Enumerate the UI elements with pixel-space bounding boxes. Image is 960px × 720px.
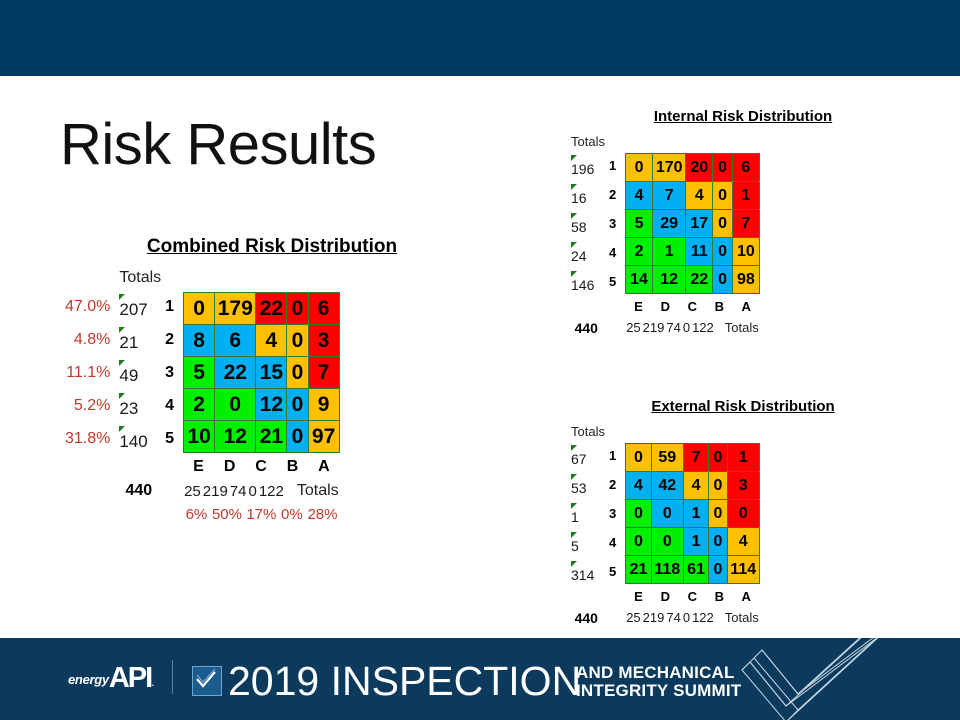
cell-1-C: 22	[256, 293, 287, 325]
internal-row-total: 146	[571, 277, 594, 293]
combined-row-total: 207	[119, 300, 147, 319]
table-row: 10 12 21 0 97	[184, 421, 340, 453]
col-label-D: D	[214, 457, 245, 477]
col-percent-A: 28%	[305, 505, 339, 524]
summit-checkmark-graphic	[724, 638, 904, 720]
api-logo-registered: .	[151, 675, 154, 689]
combined-row-percent: 31.8%	[64, 423, 116, 454]
internal-risk-layout: Totals 196 1 0 170 20 0 6	[568, 130, 763, 339]
combined-row-percent: 4.8%	[64, 324, 116, 355]
internal-totals-header: Totals	[571, 134, 605, 149]
col-total-E: 25	[183, 481, 202, 501]
internal-risk-title: Internal Risk Distribution	[568, 108, 918, 125]
cell-5-A: 97	[308, 421, 339, 453]
external-row-label: 5	[608, 558, 622, 585]
cell-4-C: 1	[683, 528, 709, 556]
cell-1-D: 170	[652, 154, 686, 182]
external-row-label: 2	[608, 471, 622, 498]
table-row: 21 118 61 0 114	[626, 556, 760, 584]
cell-3-E: 5	[626, 210, 653, 238]
cell-3-B: 0	[287, 357, 308, 389]
col-total-C: 74	[229, 481, 248, 501]
cell-2-B: 0	[713, 182, 733, 210]
cell-5-A: 98	[733, 266, 760, 294]
cell-3-D: 0	[651, 500, 683, 528]
col-label-C: C	[679, 588, 706, 605]
cell-2-E: 8	[184, 325, 215, 357]
col-percent-D: 50%	[210, 505, 244, 524]
cell-3-E: 5	[184, 357, 215, 389]
external-row-total: 5	[571, 538, 579, 554]
table-row: 0 0 1 0 4	[626, 528, 760, 556]
col-percent-E: 6%	[183, 505, 210, 524]
cell-1-E: 0	[626, 444, 652, 472]
internal-row-total: 16	[571, 190, 587, 206]
col-total-E: 25	[625, 319, 641, 336]
external-totals-header: Totals	[571, 424, 605, 439]
combined-row-label: 5	[164, 423, 180, 454]
table-row: 0 179 22 0 6	[184, 293, 340, 325]
slide-footer: energyAPI. 2019 INSPECTION AND MECHANICA…	[0, 638, 960, 720]
footer-subtitle-line2: INTEGRITY SUMMIT	[576, 682, 741, 700]
internal-column-totals: 25 219 74 0 122 Totals	[625, 319, 760, 336]
cell-3-D: 22	[215, 357, 256, 389]
col-total-D: 219	[642, 609, 666, 626]
col-total-D: 219	[202, 481, 229, 501]
cell-5-D: 12	[215, 421, 256, 453]
col-total-B: 0	[247, 481, 257, 501]
table-row: 4 42 4 0 3	[626, 472, 760, 500]
internal-row-label: 3	[608, 210, 622, 237]
cell-2-B: 0	[287, 325, 308, 357]
cell-2-D: 42	[651, 472, 683, 500]
col-label-C: C	[245, 457, 276, 477]
cell-1-D: 179	[215, 293, 256, 325]
cell-1-A: 6	[733, 154, 760, 182]
combined-column-percents: 6% 50% 17% 0% 28%	[183, 505, 340, 524]
col-total-A: 122	[258, 481, 285, 501]
combined-row-total: 140	[119, 432, 147, 451]
cell-5-B: 0	[287, 421, 308, 453]
cell-1-C: 7	[683, 444, 709, 472]
cell-5-C: 61	[683, 556, 709, 584]
cell-3-A: 0	[727, 500, 759, 528]
external-column-totals: 25 219 74 0 122 Totals	[625, 609, 760, 626]
col-total-A: 122	[691, 319, 715, 336]
cell-4-A: 4	[727, 528, 759, 556]
cell-5-B: 0	[713, 266, 733, 294]
cell-2-D: 7	[652, 182, 686, 210]
cell-1-A: 6	[308, 293, 339, 325]
internal-grand-total: 440	[570, 318, 606, 337]
combined-row-label: 3	[164, 357, 180, 388]
col-label-A: A	[308, 457, 339, 477]
table-row: 0 59 7 0 1	[626, 444, 760, 472]
combined-column-totals: 25 219 74 0 122 Totals	[183, 481, 340, 501]
col-percent-C: 17%	[244, 505, 278, 524]
cell-1-C: 20	[686, 154, 713, 182]
cell-3-B: 0	[709, 500, 727, 528]
cell-4-E: 2	[184, 389, 215, 421]
cell-4-E: 0	[626, 528, 652, 556]
cell-2-A: 1	[733, 182, 760, 210]
cell-4-A: 10	[733, 238, 760, 266]
combined-row-total: 23	[119, 399, 138, 418]
external-row-total: 1	[571, 509, 579, 525]
col-label-C: C	[679, 298, 706, 315]
page-title: Risk Results	[60, 116, 376, 174]
combined-row-total: 21	[119, 333, 138, 352]
combined-risk-title: Combined Risk Distribution	[62, 236, 482, 258]
combined-totals-header: Totals	[119, 269, 161, 286]
internal-row-total: 24	[571, 248, 587, 264]
combined-row-label: 1	[164, 291, 180, 322]
col-total-E: 25	[625, 609, 641, 626]
api-logo-energy: energy	[68, 672, 109, 687]
external-grand-total: 440	[570, 608, 606, 627]
table-row: 2 1 11 0 10	[626, 238, 760, 266]
cell-2-E: 4	[626, 472, 652, 500]
cell-1-B: 0	[709, 444, 727, 472]
table-row: 5 29 17 0 7	[626, 210, 760, 238]
external-row-label: 1	[608, 442, 622, 469]
col-total-A: 122	[691, 609, 715, 626]
col-total-C: 74	[665, 609, 681, 626]
cell-4-C: 11	[686, 238, 713, 266]
external-row-label: 4	[608, 529, 622, 556]
col-label-E: E	[183, 457, 214, 477]
cell-1-D: 59	[651, 444, 683, 472]
cell-1-E: 0	[626, 154, 653, 182]
cell-1-B: 0	[287, 293, 308, 325]
combined-row-label: 2	[164, 324, 180, 355]
external-row-total: 53	[571, 480, 587, 496]
combined-row-percent: 47.0%	[64, 291, 116, 322]
slide: Risk Results Combined Risk Distribution …	[0, 0, 960, 720]
table-row: 8 6 4 0 3	[184, 325, 340, 357]
footer-subtitle-line1: AND MECHANICAL	[576, 664, 741, 682]
cell-3-E: 0	[626, 500, 652, 528]
internal-row-label: 5	[608, 268, 622, 295]
cell-2-A: 3	[727, 472, 759, 500]
internal-row-label: 1	[608, 152, 622, 179]
col-percent-B: 0%	[279, 505, 306, 524]
cell-2-B: 0	[709, 472, 727, 500]
col-label-E: E	[625, 298, 652, 315]
cell-3-A: 7	[733, 210, 760, 238]
col-label-B: B	[706, 298, 733, 315]
cell-2-D: 6	[215, 325, 256, 357]
col-label-A: A	[733, 588, 760, 605]
col-label-B: B	[277, 457, 308, 477]
cell-4-B: 0	[713, 238, 733, 266]
cell-3-D: 29	[652, 210, 686, 238]
footer-event-subtitle: AND MECHANICAL INTEGRITY SUMMIT	[576, 664, 741, 701]
table-row: 0 0 1 0 0	[626, 500, 760, 528]
external-row-label: 3	[608, 500, 622, 527]
table-row: 0 170 20 0 6	[626, 154, 760, 182]
table-row: 5 22 15 0 7	[184, 357, 340, 389]
external-matrix: 0 59 7 0 1 4 42 4 0 3	[625, 443, 760, 584]
internal-risk-grid: Totals 196 1 0 170 20 0 6	[568, 130, 763, 339]
external-totals-right-label: Totals	[715, 609, 760, 626]
cell-2-C: 4	[256, 325, 287, 357]
cell-4-E: 2	[626, 238, 653, 266]
internal-row-label: 2	[608, 181, 622, 208]
combined-column-labels: E D C B A	[183, 457, 340, 477]
combined-risk-grid: Totals 47.0% 207 1 0 179 22 0	[62, 264, 343, 527]
combined-row-total: 49	[119, 366, 138, 385]
combined-row-percent: 5.2%	[64, 390, 116, 421]
cell-2-C: 4	[683, 472, 709, 500]
footer-event-year: 2019 INSPECTION	[228, 658, 581, 705]
cell-3-C: 17	[686, 210, 713, 238]
external-risk-title: External Risk Distribution	[568, 398, 918, 415]
internal-matrix: 0 170 20 0 6 4 7 4 0 1	[625, 153, 760, 294]
cell-5-E: 10	[184, 421, 215, 453]
cell-5-E: 14	[626, 266, 653, 294]
col-total-B: 0	[682, 609, 691, 626]
cell-5-C: 21	[256, 421, 287, 453]
internal-row-total: 196	[571, 161, 594, 177]
table-row: 2 0 12 0 9	[184, 389, 340, 421]
col-total-B: 0	[682, 319, 691, 336]
cell-2-E: 4	[626, 182, 653, 210]
external-row-total: 314	[571, 567, 594, 583]
footer-divider	[172, 660, 173, 694]
cell-5-D: 12	[652, 266, 686, 294]
cell-5-B: 0	[709, 556, 727, 584]
checkmark-icon	[192, 666, 222, 696]
cell-4-D: 1	[652, 238, 686, 266]
internal-row-total: 58	[571, 219, 587, 235]
col-label-A: A	[733, 298, 760, 315]
external-risk-grid: Totals 67 1 0 59 7 0 1	[568, 420, 763, 629]
col-total-C: 74	[665, 319, 681, 336]
internal-totals-right-label: Totals	[715, 319, 760, 336]
cell-5-C: 22	[686, 266, 713, 294]
combined-grand-total: 440	[118, 480, 162, 502]
col-label-B: B	[706, 588, 733, 605]
cell-4-C: 12	[256, 389, 287, 421]
cell-4-D: 0	[651, 528, 683, 556]
col-total-D: 219	[642, 319, 666, 336]
cell-1-B: 0	[713, 154, 733, 182]
table-row: 4 7 4 0 1	[626, 182, 760, 210]
external-risk-layout: Totals 67 1 0 59 7 0 1	[568, 420, 763, 629]
cell-1-A: 1	[727, 444, 759, 472]
cell-5-E: 21	[626, 556, 652, 584]
top-banner	[0, 0, 960, 76]
cell-4-A: 9	[308, 389, 339, 421]
cell-1-E: 0	[184, 293, 215, 325]
combined-totals-right-label: Totals	[285, 481, 340, 501]
cell-5-D: 118	[651, 556, 683, 584]
col-label-E: E	[625, 588, 652, 605]
combined-risk-layout: Totals 47.0% 207 1 0 179 22 0	[62, 264, 343, 527]
cell-3-A: 7	[308, 357, 339, 389]
cell-2-C: 4	[686, 182, 713, 210]
cell-2-A: 3	[308, 325, 339, 357]
cell-4-D: 0	[215, 389, 256, 421]
internal-row-label: 4	[608, 239, 622, 266]
combined-row-label: 4	[164, 390, 180, 421]
api-logo: energyAPI.	[68, 662, 155, 695]
cell-5-A: 114	[727, 556, 759, 584]
external-row-total: 67	[571, 451, 587, 467]
combined-row-percent: 11.1%	[64, 357, 116, 388]
table-row: 14 12 22 0 98	[626, 266, 760, 294]
internal-column-labels: E D C B A	[625, 298, 760, 315]
col-label-D: D	[652, 588, 679, 605]
cell-4-B: 0	[287, 389, 308, 421]
combined-matrix: 0 179 22 0 6 8 6 4 0 3	[183, 292, 340, 453]
cell-3-C: 1	[683, 500, 709, 528]
external-column-labels: E D C B A	[625, 588, 760, 605]
cell-3-B: 0	[713, 210, 733, 238]
api-logo-word: API	[109, 662, 151, 694]
cell-4-B: 0	[709, 528, 727, 556]
cell-3-C: 15	[256, 357, 287, 389]
col-label-D: D	[652, 298, 679, 315]
